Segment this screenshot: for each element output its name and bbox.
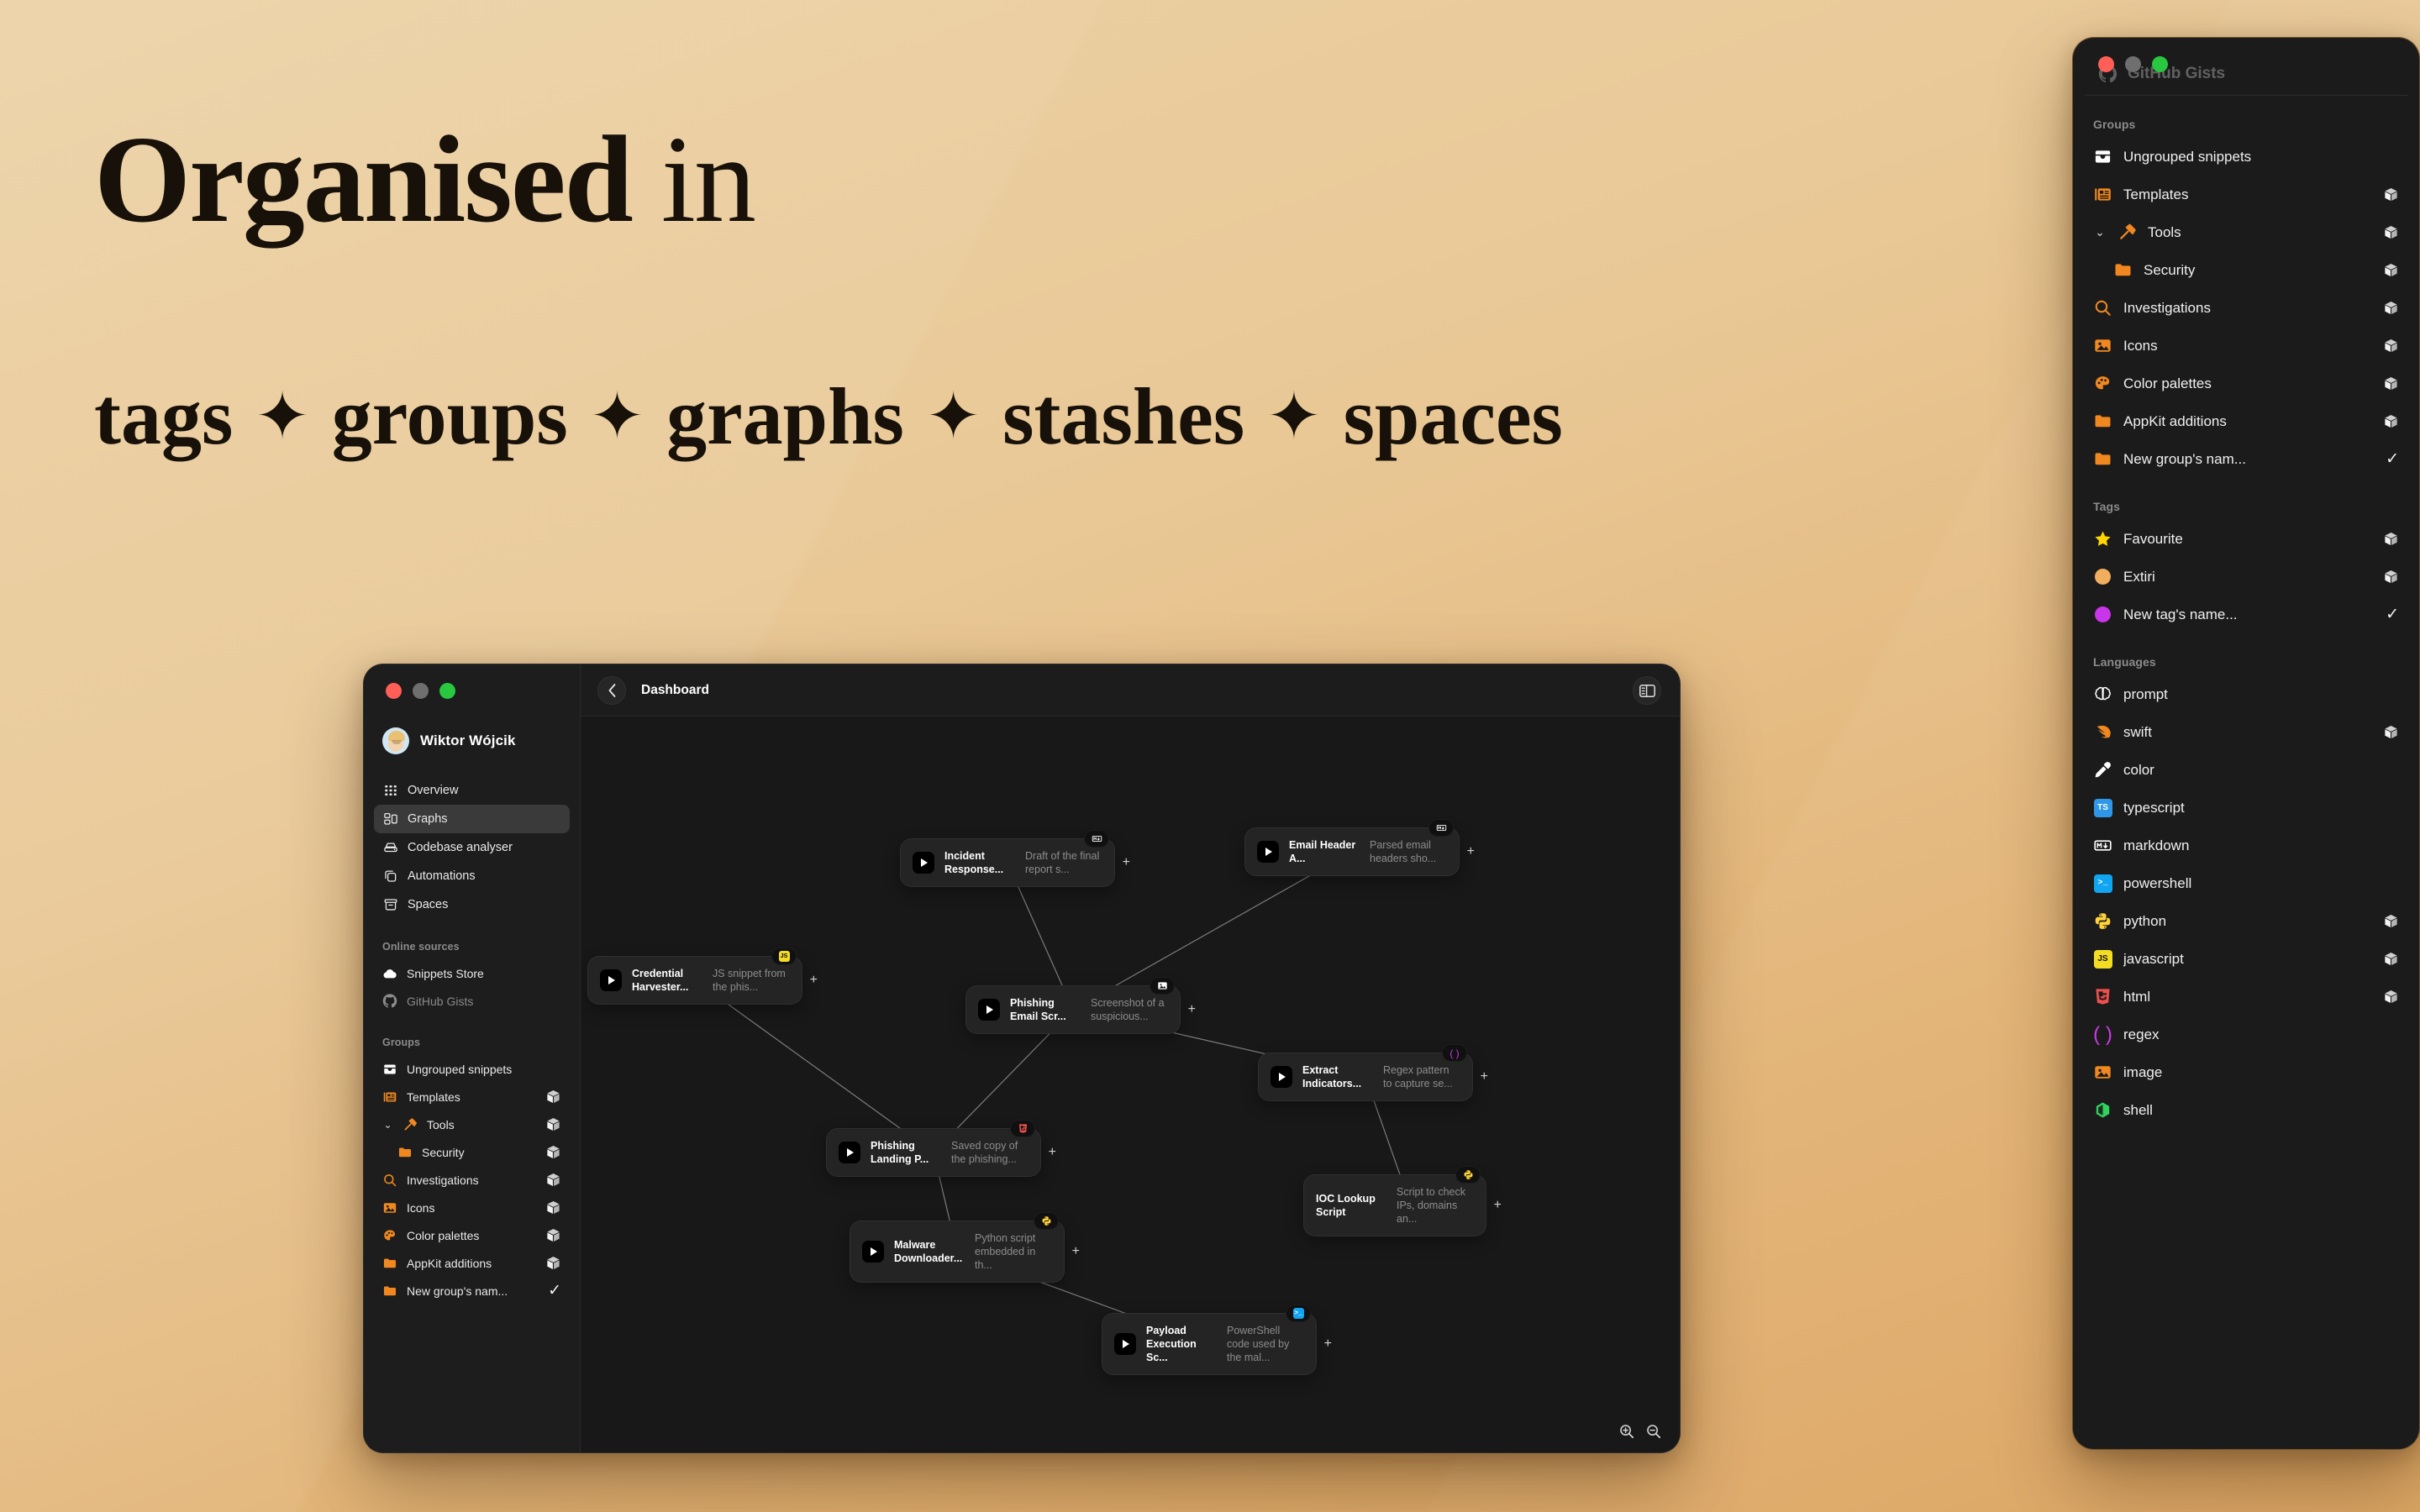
group-item-powershell[interactable]: >_powershell bbox=[2085, 864, 2407, 902]
group-item-trailing[interactable] bbox=[2383, 531, 2399, 547]
hero-headline: Organised in bbox=[94, 118, 755, 242]
dot-icon bbox=[2093, 605, 2112, 624]
package-box-icon bbox=[2383, 375, 2399, 391]
gists-groups-list: Ungrouped snippetsTemplates⌄ToolsSecurit… bbox=[2085, 138, 2407, 478]
gists-languages-label: Languages bbox=[2085, 655, 2407, 669]
zoom-controls bbox=[1619, 1424, 1661, 1439]
group-item-label: Investigations bbox=[2123, 300, 2372, 317]
groups-list: Ungrouped snippetsTemplates⌄ToolsSecurit… bbox=[374, 1055, 570, 1305]
check-icon: ✓ bbox=[2386, 606, 2399, 623]
graph-node[interactable]: Phishing Landing P...Saved copy of the p… bbox=[826, 1128, 1041, 1177]
online-sources-list: Snippets StoreGitHub Gists bbox=[374, 959, 570, 1015]
close-window-button[interactable] bbox=[386, 683, 402, 699]
run-snippet-button[interactable] bbox=[1114, 1333, 1136, 1355]
group-item-label: regex bbox=[2123, 1026, 2388, 1043]
node-language-badge: ( ) bbox=[1442, 1044, 1467, 1062]
node-title: Payload Execution Sc... bbox=[1146, 1324, 1218, 1364]
hero-subtitle-word: groups bbox=[332, 371, 568, 461]
group-item-trailing[interactable]: ✓ bbox=[548, 1281, 561, 1300]
group-item-label: Templates bbox=[407, 1090, 536, 1104]
group-item-label: Security bbox=[2144, 262, 2372, 279]
node-description: Python script embedded in th... bbox=[975, 1231, 1052, 1272]
group-item-trailing[interactable] bbox=[2383, 375, 2399, 391]
run-snippet-button[interactable] bbox=[839, 1142, 860, 1163]
node-title: Phishing Landing P... bbox=[871, 1139, 943, 1166]
gists-languages-list: promptswiftcolorTStypescriptmarkdown>_po… bbox=[2085, 675, 2407, 1129]
js-icon: JS bbox=[779, 951, 790, 962]
group-item-trailing[interactable] bbox=[545, 1200, 561, 1215]
source-item-label: Snippets Store bbox=[407, 967, 484, 980]
group-item-tools[interactable]: ⌄Tools bbox=[374, 1110, 570, 1138]
node-language-badge bbox=[1455, 1166, 1481, 1184]
gists-divider bbox=[2085, 95, 2407, 96]
sidebar-panel-icon[interactable] bbox=[1633, 676, 1661, 705]
user-profile-row[interactable]: Wiktor Wójcik bbox=[374, 699, 570, 754]
sidebar-item-graphs[interactable]: Graphs bbox=[374, 805, 570, 833]
group-item-label: Tools bbox=[427, 1118, 536, 1131]
main-nav-list: OverviewGraphsCodebase analyserAutomatio… bbox=[374, 776, 570, 919]
node-description: Draft of the final report s... bbox=[1025, 849, 1102, 876]
group-item-label: python bbox=[2123, 913, 2372, 930]
regex-icon: ( ) bbox=[1449, 1048, 1459, 1058]
group-item-label: javascript bbox=[2123, 951, 2372, 968]
photo-icon bbox=[1157, 980, 1168, 991]
node-description: JS snippet from the phis... bbox=[713, 967, 790, 994]
group-item-trailing[interactable] bbox=[2383, 569, 2399, 585]
group-item-trailing[interactable] bbox=[2383, 186, 2399, 202]
markdown-icon bbox=[1092, 833, 1102, 844]
group-item-label: Security bbox=[422, 1146, 536, 1159]
sidebar-item-codebase-analyser[interactable]: Codebase analyser bbox=[374, 833, 570, 862]
node-title: Malware Downloader... bbox=[894, 1238, 966, 1265]
group-item-javascript[interactable]: JSjavascript bbox=[2085, 940, 2407, 978]
group-item-label: New group's nam... bbox=[407, 1284, 539, 1298]
add-node-button[interactable]: + bbox=[1481, 1070, 1488, 1084]
group-item-label: Templates bbox=[2123, 186, 2372, 203]
group-item-label: swift bbox=[2123, 724, 2372, 741]
group-item-html[interactable]: html bbox=[2085, 978, 2407, 1016]
source-item-github-gists[interactable]: GitHub Gists bbox=[374, 987, 570, 1015]
group-item-icons[interactable]: Icons bbox=[2085, 327, 2407, 365]
group-item-swift[interactable]: swift bbox=[2085, 713, 2407, 751]
hero-subtitle: tags✦groups✦graphs✦stashes✦spaces bbox=[94, 376, 1563, 457]
group-item-label: image bbox=[2123, 1064, 2388, 1081]
gists-traffic-lights[interactable] bbox=[2085, 38, 2168, 72]
package-box-icon bbox=[545, 1116, 561, 1132]
add-node-button[interactable]: + bbox=[1494, 1199, 1502, 1212]
main-app-window: Wiktor Wójcik OverviewGraphsCodebase ana… bbox=[363, 664, 1681, 1453]
package-box-icon bbox=[2383, 224, 2399, 240]
palette-icon bbox=[382, 1228, 397, 1243]
package-box-icon bbox=[545, 1200, 561, 1215]
package-box-icon bbox=[545, 1172, 561, 1188]
scanner-icon bbox=[382, 840, 398, 856]
zoom-in-icon[interactable] bbox=[1619, 1424, 1634, 1439]
folder-icon bbox=[2113, 260, 2133, 280]
group-item-label: AppKit additions bbox=[407, 1257, 536, 1270]
graphs-icon bbox=[382, 811, 398, 827]
sidebar-item-spaces[interactable]: Spaces bbox=[374, 890, 570, 919]
user-avatar bbox=[382, 727, 409, 754]
add-node-button[interactable]: + bbox=[1188, 1003, 1196, 1016]
package-box-icon bbox=[2383, 569, 2399, 585]
github-gists-panel: GitHub Gists Groups Ungrouped snippetsTe… bbox=[2072, 37, 2420, 1450]
article-icon bbox=[2093, 185, 2112, 204]
run-snippet-button[interactable] bbox=[1257, 841, 1279, 863]
add-node-button[interactable]: + bbox=[1072, 1245, 1080, 1258]
powershell-icon: >_ bbox=[1293, 1308, 1304, 1319]
package-box-icon bbox=[2383, 724, 2399, 740]
group-item-trailing[interactable] bbox=[545, 1116, 561, 1132]
package-box-icon bbox=[2383, 186, 2399, 202]
gists-maximize-button[interactable] bbox=[2152, 56, 2168, 72]
inbox-tray-icon bbox=[2093, 147, 2112, 166]
palette-icon bbox=[2093, 374, 2112, 393]
main-content-area: Dashboard Incident Response...Draft of t… bbox=[581, 664, 1680, 1452]
breadcrumb-title: Dashboard bbox=[641, 683, 709, 698]
group-item-templates[interactable]: Templates bbox=[2085, 176, 2407, 213]
node-title: Incident Response... bbox=[944, 849, 1017, 876]
graph-node[interactable]: IOC Lookup ScriptScript to check IPs, do… bbox=[1303, 1174, 1486, 1236]
group-item-new-tag-s-name[interactable]: New tag's name...✓ bbox=[2085, 596, 2407, 633]
folder-icon bbox=[2093, 412, 2112, 431]
user-name: Wiktor Wójcik bbox=[420, 732, 516, 749]
photo-icon bbox=[382, 1200, 397, 1215]
hero-subtitle-word: graphs bbox=[666, 371, 904, 461]
graph-canvas[interactable]: Incident Response...Draft of the final r… bbox=[581, 717, 1680, 1452]
python-icon bbox=[1463, 1169, 1474, 1180]
copy-stack-icon bbox=[382, 869, 398, 885]
node-description: Saved copy of the phishing... bbox=[951, 1139, 1028, 1166]
group-item-label: New tag's name... bbox=[2123, 606, 2375, 623]
package-box-icon bbox=[2383, 531, 2399, 547]
group-item-label: Ungrouped snippets bbox=[407, 1063, 552, 1076]
group-item-label: shell bbox=[2123, 1102, 2388, 1119]
group-item-python[interactable]: python bbox=[2085, 902, 2407, 940]
package-box-icon bbox=[2383, 300, 2399, 316]
back-button[interactable] bbox=[597, 676, 626, 705]
node-language-badge bbox=[1034, 1212, 1059, 1230]
swift-icon bbox=[2093, 722, 2112, 742]
package-box-icon bbox=[2383, 338, 2399, 354]
group-item-templates[interactable]: Templates bbox=[374, 1083, 570, 1110]
add-node-button[interactable]: + bbox=[1123, 856, 1130, 869]
add-node-button[interactable]: + bbox=[810, 974, 818, 987]
node-language-badge: JS bbox=[771, 948, 797, 965]
group-item-trailing[interactable] bbox=[2383, 951, 2399, 967]
ts-icon: TS bbox=[2093, 798, 2112, 817]
node-language-badge bbox=[1428, 819, 1454, 837]
group-item-label: powershell bbox=[2123, 875, 2388, 892]
add-node-button[interactable]: + bbox=[1049, 1146, 1056, 1159]
hero-subtitle-word: tags bbox=[94, 371, 233, 461]
group-item-trailing[interactable] bbox=[2383, 338, 2399, 354]
node-description: Screenshot of a suspicious... bbox=[1091, 996, 1168, 1023]
group-item-label: New group's nam... bbox=[2123, 451, 2375, 468]
node-title: Credential Harvester... bbox=[632, 967, 704, 994]
node-description: Regex pattern to capture se... bbox=[1383, 1063, 1460, 1090]
group-item-label: AppKit additions bbox=[2123, 413, 2372, 430]
zoom-out-icon[interactable] bbox=[1646, 1424, 1661, 1439]
gists-minimize-button[interactable] bbox=[2125, 56, 2141, 72]
hero-separator-icon: ✦ bbox=[233, 380, 331, 453]
group-item-regex[interactable]: ( )regex bbox=[2085, 1016, 2407, 1053]
group-item-investigations[interactable]: Investigations bbox=[374, 1166, 570, 1194]
group-item-trailing[interactable] bbox=[545, 1089, 561, 1105]
graph-node[interactable]: Payload Execution Sc...PowerShell code u… bbox=[1102, 1313, 1317, 1375]
sidebar-item-label: Automations bbox=[408, 869, 476, 883]
hero-headline-light: in bbox=[661, 111, 755, 249]
sidebar-item-overview[interactable]: Overview bbox=[374, 776, 570, 805]
group-item-security[interactable]: Security bbox=[2085, 251, 2407, 289]
group-item-label: color bbox=[2123, 762, 2388, 779]
add-node-button[interactable]: + bbox=[1467, 845, 1475, 858]
graph-node[interactable]: Phishing Email Scr...Screenshot of a sus… bbox=[965, 985, 1181, 1034]
chevron-down-icon[interactable]: ⌄ bbox=[382, 1119, 393, 1131]
markdown-icon bbox=[1436, 822, 1447, 833]
group-item-ungrouped-snippets[interactable]: Ungrouped snippets bbox=[374, 1055, 570, 1083]
group-item-label: Tools bbox=[2148, 224, 2372, 241]
group-item-trailing[interactable] bbox=[2383, 913, 2399, 929]
main-toolbar: Dashboard bbox=[581, 664, 1680, 717]
dot-icon bbox=[2093, 567, 2112, 586]
node-language-badge bbox=[1149, 977, 1175, 995]
hammer-icon bbox=[402, 1117, 418, 1132]
group-item-image[interactable]: image bbox=[2085, 1053, 2407, 1091]
run-snippet-button[interactable] bbox=[862, 1241, 884, 1263]
group-item-trailing[interactable]: ✓ bbox=[2386, 605, 2399, 624]
graph-node[interactable]: Malware Downloader...Python script embed… bbox=[850, 1221, 1065, 1283]
inbox-tray-icon bbox=[382, 1062, 397, 1077]
archive-box-icon bbox=[382, 897, 398, 913]
package-box-icon bbox=[2383, 913, 2399, 929]
groups-label: Groups bbox=[374, 1037, 570, 1048]
group-item-label: Icons bbox=[2123, 338, 2372, 354]
package-box-icon bbox=[2383, 989, 2399, 1005]
magnifier-icon bbox=[2093, 298, 2112, 318]
eyedropper-icon bbox=[2093, 760, 2112, 780]
folder-icon bbox=[2093, 449, 2112, 469]
node-title: Email Header A... bbox=[1289, 838, 1361, 865]
source-item-label: GitHub Gists bbox=[407, 995, 473, 1008]
group-item-label: Favourite bbox=[2123, 531, 2372, 548]
gists-close-button[interactable] bbox=[2098, 56, 2114, 72]
photo-icon bbox=[2093, 336, 2112, 355]
hammer-icon bbox=[2117, 223, 2137, 242]
group-item-label: Icons bbox=[407, 1201, 536, 1215]
star-icon bbox=[2093, 529, 2112, 549]
group-item-extiri[interactable]: Extiri bbox=[2085, 558, 2407, 596]
python-icon bbox=[2093, 911, 2112, 931]
group-item-label: html bbox=[2123, 989, 2372, 1005]
package-box-icon bbox=[2383, 262, 2399, 278]
minimize-window-button[interactable] bbox=[413, 683, 429, 699]
package-box-icon bbox=[2383, 413, 2399, 429]
group-item-appkit-additions[interactable]: AppKit additions bbox=[2085, 402, 2407, 440]
chevron-down-icon[interactable]: ⌄ bbox=[2093, 225, 2107, 239]
group-item-label: markdown bbox=[2123, 837, 2388, 854]
html5-icon bbox=[1018, 1123, 1028, 1134]
group-item-trailing[interactable] bbox=[2383, 989, 2399, 1005]
html5-icon bbox=[2093, 987, 2112, 1006]
node-language-badge bbox=[1010, 1120, 1035, 1137]
group-item-label: Investigations bbox=[407, 1173, 536, 1187]
group-item-label: prompt bbox=[2123, 686, 2388, 703]
article-icon bbox=[382, 1089, 397, 1105]
photo-icon bbox=[2093, 1063, 2112, 1082]
node-title: IOC Lookup Script bbox=[1316, 1192, 1388, 1219]
graph-node[interactable]: Credential Harvester...JS snippet from t… bbox=[587, 956, 802, 1005]
grid-icon bbox=[382, 783, 398, 799]
source-item-snippets-store[interactable]: Snippets Store bbox=[374, 959, 570, 987]
group-item-label: typescript bbox=[2123, 800, 2388, 816]
package-box-icon bbox=[545, 1144, 561, 1160]
node-title: Extract Indicators... bbox=[1302, 1063, 1375, 1090]
group-item-icons[interactable]: Icons bbox=[374, 1194, 570, 1221]
group-item-trailing[interactable] bbox=[545, 1172, 561, 1188]
check-icon: ✓ bbox=[548, 1281, 561, 1300]
group-item-tools[interactable]: ⌄Tools bbox=[2085, 213, 2407, 251]
package-box-icon bbox=[545, 1227, 561, 1243]
hero-separator-icon: ✦ bbox=[1244, 380, 1343, 453]
sidebar-item-label: Spaces bbox=[408, 898, 448, 911]
sidebar-item-label: Codebase analyser bbox=[408, 841, 513, 854]
group-item-security[interactable]: Security bbox=[374, 1138, 570, 1166]
sidebar-item-automations[interactable]: Automations bbox=[374, 862, 570, 890]
group-item-trailing[interactable]: ✓ bbox=[2386, 449, 2399, 469]
gists-tags-list: FavouriteExtiriNew tag's name...✓ bbox=[2085, 520, 2407, 633]
group-item-trailing[interactable] bbox=[2383, 262, 2399, 278]
hero-subtitle-word: spaces bbox=[1344, 371, 1563, 461]
group-item-markdown[interactable]: markdown bbox=[2085, 827, 2407, 864]
python-icon bbox=[1041, 1215, 1052, 1226]
group-item-trailing[interactable] bbox=[2383, 724, 2399, 740]
node-description: Script to check IPs, domains an... bbox=[1397, 1185, 1474, 1226]
brain-icon bbox=[2093, 685, 2112, 704]
add-node-button[interactable]: + bbox=[1324, 1337, 1332, 1351]
group-item-favourite[interactable]: Favourite bbox=[2085, 520, 2407, 558]
folder-icon bbox=[397, 1145, 413, 1160]
sidebar-item-label: Graphs bbox=[408, 812, 448, 826]
group-item-label: Color palettes bbox=[2123, 375, 2372, 392]
run-snippet-button[interactable] bbox=[600, 969, 622, 991]
package-box-icon bbox=[545, 1255, 561, 1271]
group-item-color[interactable]: color bbox=[2085, 751, 2407, 789]
node-language-badge: >_ bbox=[1286, 1305, 1311, 1322]
run-snippet-button[interactable] bbox=[1270, 1066, 1292, 1088]
shell-icon bbox=[2093, 1100, 2112, 1120]
node-title: Phishing Email Scr... bbox=[1010, 996, 1082, 1023]
group-item-prompt[interactable]: prompt bbox=[2085, 675, 2407, 713]
group-item-color-palettes[interactable]: Color palettes bbox=[2085, 365, 2407, 402]
package-box-icon bbox=[545, 1089, 561, 1105]
group-item-appkit-additions[interactable]: AppKit additions bbox=[374, 1249, 570, 1277]
group-item-trailing[interactable] bbox=[2383, 224, 2399, 240]
regex-icon: ( ) bbox=[2093, 1025, 2112, 1044]
main-sidebar: Wiktor Wójcik OverviewGraphsCodebase ana… bbox=[364, 664, 581, 1452]
group-item-typescript[interactable]: TStypescript bbox=[2085, 789, 2407, 827]
graph-node[interactable]: Incident Response...Draft of the final r… bbox=[900, 838, 1115, 887]
powershell-icon: >_ bbox=[2093, 874, 2112, 893]
group-item-label: Color palettes bbox=[407, 1229, 536, 1242]
group-item-color-palettes[interactable]: Color palettes bbox=[374, 1221, 570, 1249]
online-sources-label: Online sources bbox=[374, 941, 570, 953]
group-item-label: Extiri bbox=[2123, 569, 2372, 585]
markdown-icon bbox=[2093, 836, 2112, 855]
gists-tags-label: Tags bbox=[2085, 500, 2407, 513]
magnifier-icon bbox=[382, 1173, 397, 1188]
node-language-badge bbox=[1084, 830, 1109, 848]
hero-headline-strong: Organised bbox=[94, 111, 632, 249]
window-traffic-lights[interactable] bbox=[374, 664, 570, 699]
group-item-label: Ungrouped snippets bbox=[2123, 149, 2388, 165]
cloud-icon bbox=[382, 966, 397, 981]
package-box-icon bbox=[2383, 951, 2399, 967]
group-item-investigations[interactable]: Investigations bbox=[2085, 289, 2407, 327]
node-description: Parsed email headers sho... bbox=[1370, 838, 1447, 865]
folder-icon bbox=[382, 1284, 397, 1299]
gists-groups-label: Groups bbox=[2085, 118, 2407, 131]
github-icon bbox=[382, 994, 397, 1009]
graph-node[interactable]: Email Header A...Parsed email headers sh… bbox=[1244, 827, 1460, 876]
js-icon: JS bbox=[2093, 949, 2112, 969]
group-item-ungrouped-snippets[interactable]: Ungrouped snippets bbox=[2085, 138, 2407, 176]
group-item-trailing[interactable] bbox=[2383, 300, 2399, 316]
hero-separator-icon: ✦ bbox=[904, 380, 1002, 453]
folder-icon bbox=[382, 1256, 397, 1271]
node-description: PowerShell code used by the mal... bbox=[1227, 1324, 1304, 1364]
run-snippet-button[interactable] bbox=[913, 852, 934, 874]
sidebar-item-label: Overview bbox=[408, 784, 458, 797]
hero-separator-icon: ✦ bbox=[568, 380, 666, 453]
group-item-new-group-s-nam[interactable]: New group's nam...✓ bbox=[374, 1277, 570, 1305]
run-snippet-button[interactable] bbox=[978, 999, 1000, 1021]
group-item-trailing[interactable] bbox=[545, 1255, 561, 1271]
hero-subtitle-word: stashes bbox=[1002, 371, 1244, 461]
check-icon: ✓ bbox=[2386, 450, 2399, 468]
maximize-window-button[interactable] bbox=[439, 683, 455, 699]
group-item-trailing[interactable] bbox=[545, 1144, 561, 1160]
group-item-trailing[interactable] bbox=[545, 1227, 561, 1243]
group-item-shell[interactable]: shell bbox=[2085, 1091, 2407, 1129]
group-item-new-group-s-nam[interactable]: New group's nam...✓ bbox=[2085, 440, 2407, 478]
group-item-trailing[interactable] bbox=[2383, 413, 2399, 429]
graph-node[interactable]: Extract Indicators...Regex pattern to ca… bbox=[1258, 1053, 1473, 1101]
